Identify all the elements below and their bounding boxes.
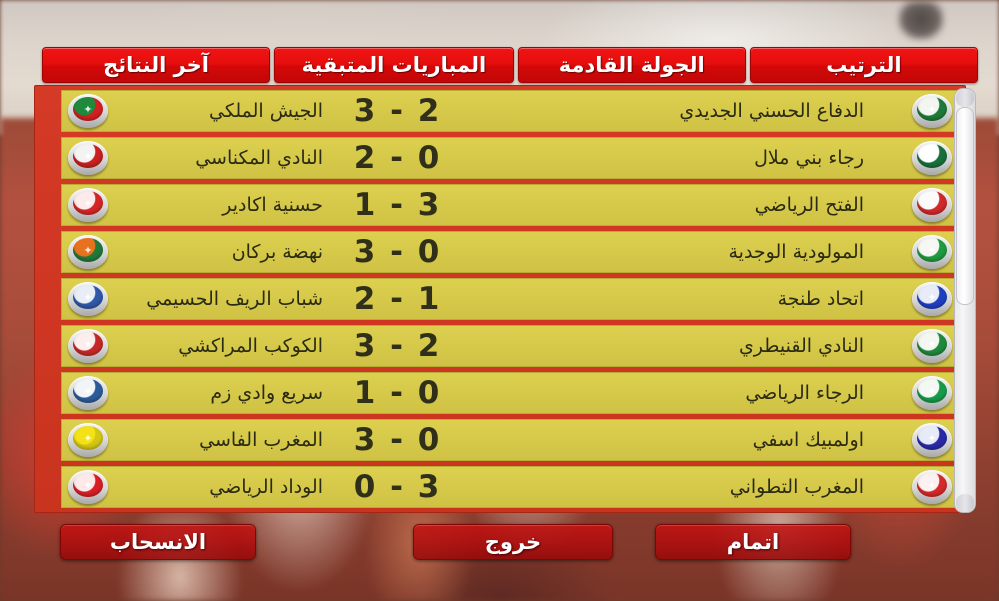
match-score: 1 - 3 [325,187,470,223]
crest-glyph: ✦ [912,423,952,457]
table-row[interactable]: ✦ رجاء بني ملال 2 - 0 النادي المكناسي ✦ [61,137,959,179]
crest-glyph: ✦ [68,235,108,269]
crest-glyph: ✦ [68,188,108,222]
table-row[interactable]: ✦ الفتح الرياضي 1 - 3 حسنية اكادير ✦ [61,184,959,226]
crest-glyph: ✦ [68,423,108,457]
crest-glyph: ✦ [68,329,108,363]
away-team-name: رجاء بني ملال [470,147,898,169]
withdraw-button[interactable]: الانسحاب [60,524,256,560]
crest-olympique-safi-icon: ✦ [912,423,952,457]
match-score: 2 - 0 [325,140,470,176]
crest-raja-riyadi-icon: ✦ [912,376,952,410]
crest-rajaa-beni-mellal-icon: ✦ [912,141,952,175]
crest-glyph: ✦ [912,329,952,363]
crest-glyph: ✦ [912,188,952,222]
crest-jaish-malaki-icon: ✦ [68,94,108,128]
home-team-name: النادي المكناسي [120,147,325,169]
away-team-name: الدفاع الحسني الجديدي [470,100,898,122]
scroll-up-button[interactable] [956,89,974,107]
away-team-name: المغرب التطواني [470,476,898,498]
crest-mouloudia-oujda-icon: ✦ [912,235,952,269]
home-team-name: شباب الريف الحسيمي [120,288,325,310]
crest-nadi-kenitri-icon: ✦ [912,329,952,363]
crest-glyph: ✦ [912,141,952,175]
match-score: 2 - 1 [325,281,470,317]
home-team-name: الكوكب المراكشي [120,335,325,357]
crest-wydad-riyadi-icon: ✦ [68,470,108,504]
table-row[interactable]: ✦ الرجاء الرياضي 1 - 0 سريع وادي زم ✦ [61,372,959,414]
crest-glyph: ✦ [912,376,952,410]
crest-glyph: ✦ [912,470,952,504]
home-team-name: نهضة بركان [120,241,325,263]
crest-glyph: ✦ [68,470,108,504]
crest-kawkab-marrakchi-icon: ✦ [68,329,108,363]
home-team-name: حسنية اكادير [120,194,325,216]
crest-difaa-hassani-jadidi-icon: ✦ [912,94,952,128]
crest-chabab-rif-hoceima-icon: ✦ [68,282,108,316]
match-score: 3 - 0 [325,234,470,270]
tab-bar: الترتيب الجولة القادمة المباريات المتبقي… [42,47,978,83]
crest-maghreb-tetouani-icon: ✦ [912,470,952,504]
match-score: 0 - 3 [325,469,470,505]
crest-maghreb-fassi-icon: ✦ [68,423,108,457]
crest-nahda-berkane-icon: ✦ [68,235,108,269]
tab-remaining-matches[interactable]: المباريات المتبقية [274,47,513,83]
home-team-name: سريع وادي زم [120,382,325,404]
home-team-name: الجيش الملكي [120,100,325,122]
tab-next-round[interactable]: الجولة القادمة [518,47,746,83]
crest-glyph: ✦ [68,282,108,316]
crest-ittihad-tanja-icon: ✦ [912,282,952,316]
tab-latest-results[interactable]: آخر النتائج [42,47,270,83]
crest-glyph: ✦ [912,94,952,128]
crest-glyph: ✦ [912,235,952,269]
crest-glyph: ✦ [912,282,952,316]
scrollbar-thumb[interactable] [956,107,974,305]
table-row[interactable]: ✦ اتحاد طنجة 2 - 1 شباب الريف الحسيمي ✦ [61,278,959,320]
crest-hassania-agadir-icon: ✦ [68,188,108,222]
results-row-list: ✦ الدفاع الحسني الجديدي 3 - 2 الجيش المل… [39,90,959,508]
match-score: 3 - 2 [325,93,470,129]
footer-button-bar: اتمام خروج الانسحاب [0,524,999,564]
table-row[interactable]: ✦ اولمبيك اسفي 3 - 0 المغرب الفاسي ✦ [61,419,959,461]
away-team-name: اتحاد طنجة [470,288,898,310]
crest-sari-oued-zem-icon: ✦ [68,376,108,410]
match-score: 3 - 2 [325,328,470,364]
table-row[interactable]: ✦ المغرب التطواني 0 - 3 الوداد الرياضي ✦ [61,466,959,508]
vertical-scrollbar[interactable] [954,88,976,513]
crest-glyph: ✦ [68,376,108,410]
confirm-button[interactable]: اتمام [655,524,851,560]
crest-fath-riyadi-icon: ✦ [912,188,952,222]
away-team-name: المولودية الوجدية [470,241,898,263]
table-row[interactable]: ✦ النادي القنيطري 3 - 2 الكوكب المراكشي … [61,325,959,367]
home-team-name: الوداد الرياضي [120,476,325,498]
match-score: 3 - 0 [325,422,470,458]
crest-nadi-meknasi-icon: ✦ [68,141,108,175]
exit-button[interactable]: خروج [413,524,613,560]
tab-standings[interactable]: الترتيب [750,47,978,83]
crest-glyph: ✦ [68,141,108,175]
away-team-name: اولمبيك اسفي [470,429,898,451]
table-row[interactable]: ✦ المولودية الوجدية 3 - 0 نهضة بركان ✦ [61,231,959,273]
table-row[interactable]: ✦ الدفاع الحسني الجديدي 3 - 2 الجيش المل… [61,90,959,132]
away-team-name: النادي القنيطري [470,335,898,357]
match-score: 1 - 0 [325,375,470,411]
away-team-name: الفتح الرياضي [470,194,898,216]
results-table: ✦ الدفاع الحسني الجديدي 3 - 2 الجيش المل… [34,85,966,513]
away-team-name: الرجاء الرياضي [470,382,898,404]
home-team-name: المغرب الفاسي [120,429,325,451]
scroll-down-button[interactable] [956,494,974,512]
crest-glyph: ✦ [68,94,108,128]
